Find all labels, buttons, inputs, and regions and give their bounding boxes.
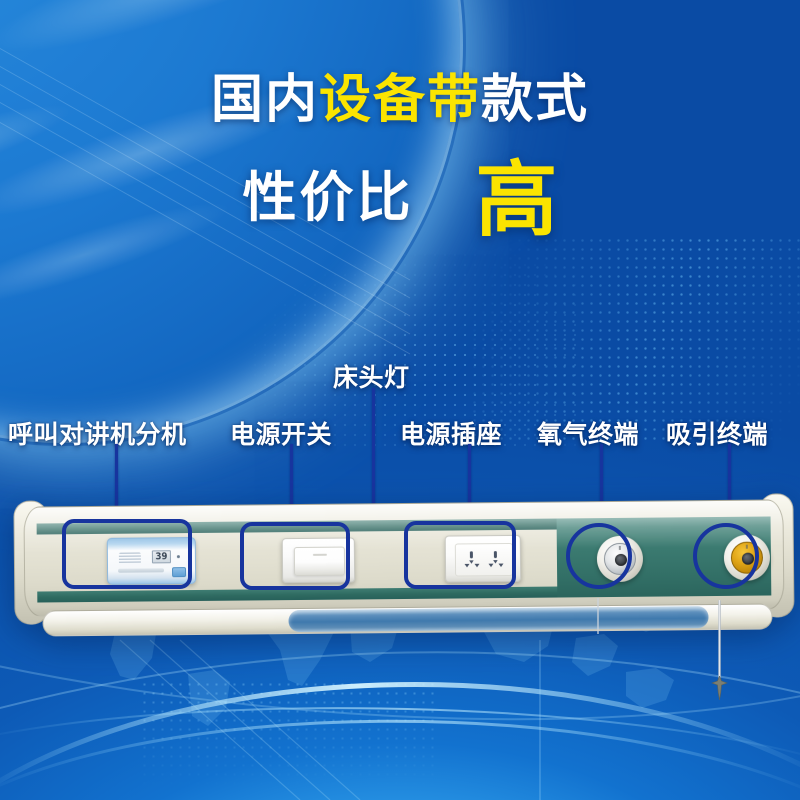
callout-label-power-socket: 电源插座: [400, 415, 502, 451]
highlight-ring-oxygen: [566, 523, 632, 589]
highlight-ring-suction: [693, 523, 759, 589]
light-arc-beams: [0, 0, 800, 800]
callout-label-oxygen-terminal: 氧气终端: [537, 415, 639, 451]
bed-lamp-diffuser: [288, 606, 708, 632]
promo-banner: 国内设备带款式 性价比高 呼叫对讲机分机 电源开关 床头灯 电源插座 氧气终端 …: [0, 0, 800, 800]
callout-label-power-switch: 电源开关: [230, 415, 332, 451]
highlight-box-intercom: [62, 519, 192, 589]
pull-cord-grip[interactable]: [711, 676, 728, 700]
callout-label-suction-terminal: 吸引终端: [666, 415, 768, 451]
lamp-pull-cord[interactable]: [718, 600, 721, 684]
callout-label-intercom: 呼叫对讲机分机: [8, 415, 187, 451]
highlight-box-power-switch: [240, 522, 350, 590]
highlight-box-power-socket: [404, 521, 516, 589]
oxygen-terminal-cord: [597, 598, 599, 634]
